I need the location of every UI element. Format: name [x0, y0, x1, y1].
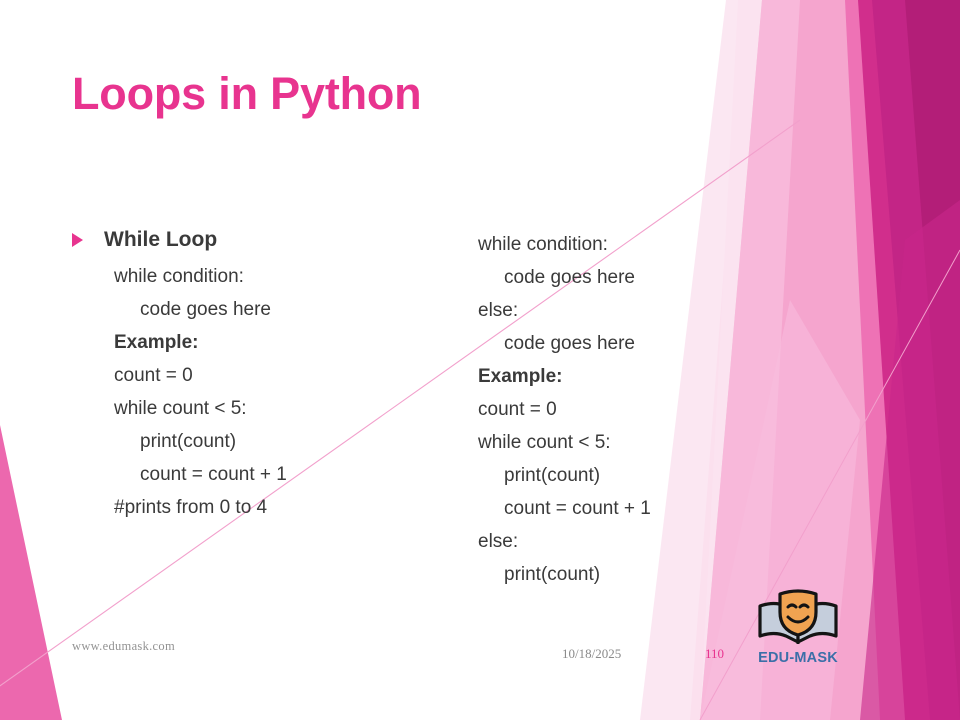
theater-mask-icon	[780, 591, 816, 635]
left-code-line: Example:	[72, 326, 442, 359]
left-pink-wedge	[0, 425, 62, 720]
right-code-line: while count < 5:	[478, 426, 778, 459]
right-code-line: while condition:	[478, 228, 778, 261]
triangle-right-icon	[72, 233, 83, 247]
footer-website: www.edumask.com	[72, 639, 175, 654]
right-code-line: print(count)	[478, 459, 778, 492]
right-content-column: while condition: code goes here else: co…	[478, 228, 778, 592]
page-title: Loops in Python	[72, 68, 421, 120]
left-heading: While Loop	[104, 226, 217, 254]
right-code-line: Example:	[478, 360, 778, 393]
presentation-slide: Loops in Python While Loop while conditi…	[0, 0, 960, 720]
left-code-line: print(count)	[72, 425, 442, 458]
left-content-column: While Loop while condition: code goes he…	[72, 226, 442, 524]
right-code-line: count = count + 1	[478, 492, 778, 525]
left-code-line: #prints from 0 to 4	[72, 491, 442, 524]
right-code-line: else:	[478, 525, 778, 558]
while-loop-bullet-row: While Loop	[72, 226, 442, 254]
left-code-line: count = 0	[72, 359, 442, 392]
right-code-line: print(count)	[478, 558, 778, 591]
footer-date: 10/18/2025	[562, 646, 621, 662]
right-code-line: code goes here	[478, 327, 778, 360]
right-code-line: code goes here	[478, 261, 778, 294]
left-code-line: while count < 5:	[72, 392, 442, 425]
edu-mask-logo: EDU-MASK	[752, 588, 844, 676]
right-code-line: count = 0	[478, 393, 778, 426]
slide-number: 110	[705, 646, 724, 662]
left-code-line: code goes here	[72, 293, 442, 326]
left-code-line: while condition:	[72, 260, 442, 293]
book-mask-icon	[752, 588, 844, 650]
right-code-line: else:	[478, 294, 778, 327]
left-code-line: count = count + 1	[72, 458, 442, 491]
deco-band-accent-fold	[860, 200, 960, 720]
logo-text: EDU-MASK	[752, 650, 844, 666]
